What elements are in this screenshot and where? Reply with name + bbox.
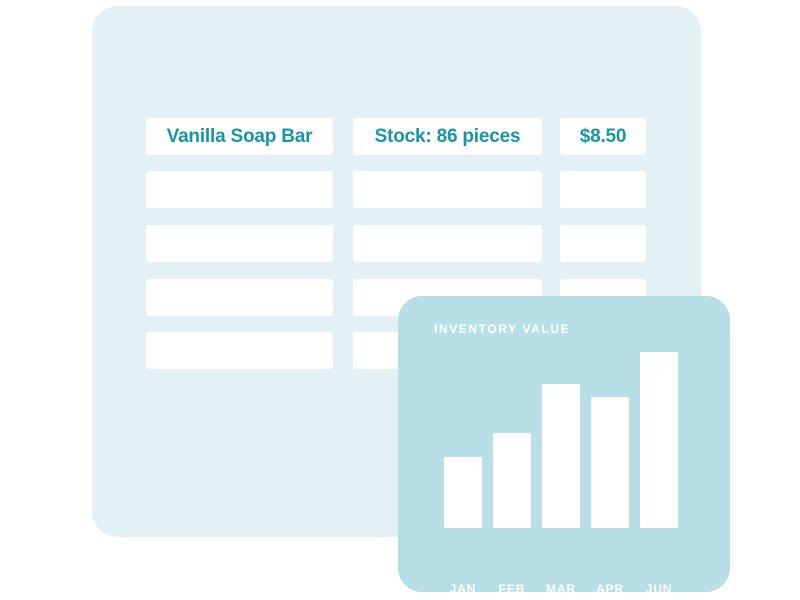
bar[interactable] [444,457,482,528]
cell-placeholder[interactable] [146,225,333,262]
bar-slot [542,341,580,528]
product-name-text: Vanilla Soap Bar [167,126,313,148]
cell-stock[interactable]: Stock: 86 pieces [353,118,542,155]
cell-product-name[interactable]: Vanilla Soap Bar [146,118,333,155]
bar[interactable] [493,433,531,528]
cell-placeholder[interactable] [560,225,646,262]
bar-label: MAR [542,582,580,592]
bar[interactable] [591,397,629,528]
table-row-header: Vanilla Soap Bar Stock: 86 pieces $8.50 [146,118,646,155]
bar-label: JUN [640,582,678,592]
stock-text: Stock: 86 pieces [375,126,521,148]
cell-price[interactable]: $8.50 [560,118,646,155]
cell-placeholder[interactable] [560,171,646,208]
illustration-canvas: Vanilla Soap Bar Stock: 86 pieces $8.50 [0,0,800,600]
bar-slot [444,341,482,528]
table-row [146,225,646,262]
bar-chart-plot: JANFEBMARAPRJUN [444,341,684,528]
cell-placeholder[interactable] [353,171,542,208]
cell-placeholder[interactable] [353,225,542,262]
cell-placeholder[interactable] [146,171,333,208]
chart-title: INVENTORY VALUE [434,322,570,336]
bar[interactable] [640,352,678,528]
bar[interactable] [542,384,580,528]
bar-label: APR [591,582,629,592]
bar-slot [493,341,531,528]
bar-slot [640,341,678,528]
cell-placeholder[interactable] [146,279,333,316]
inventory-value-card[interactable]: INVENTORY VALUE JANFEBMARAPRJUN [398,296,730,592]
price-text: $8.50 [580,126,627,148]
bar-slot [591,341,629,528]
bar-label: JAN [444,582,482,592]
table-row [146,171,646,208]
cell-placeholder[interactable] [146,332,333,369]
bar-label: FEB [493,582,531,592]
